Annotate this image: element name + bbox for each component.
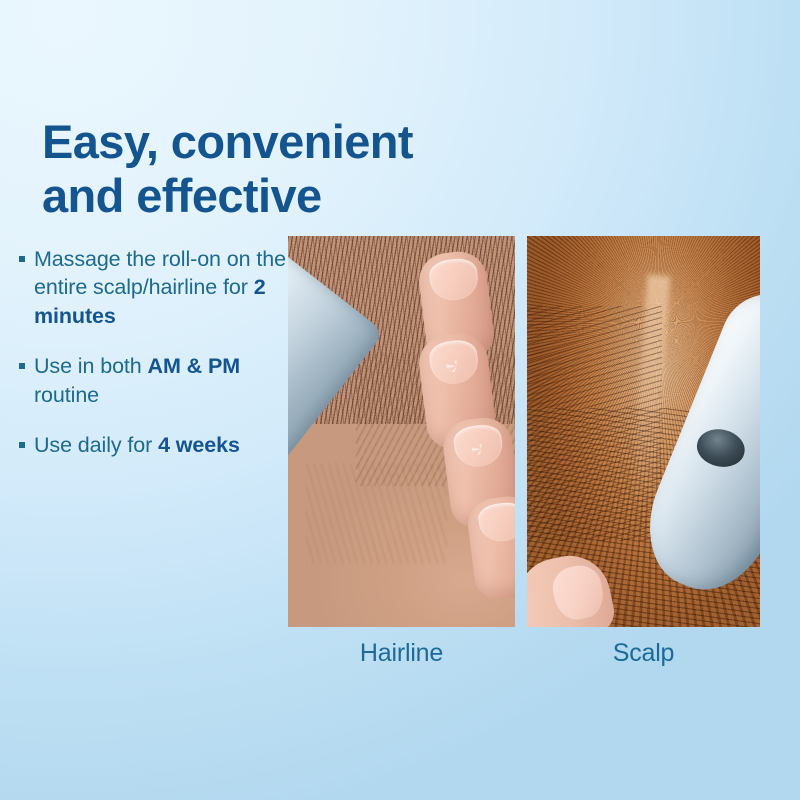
bullet-square-icon <box>19 363 25 369</box>
scalp-photo <box>527 236 760 627</box>
bullet-square-icon <box>19 256 25 262</box>
photo-panel-hairline: vise™ <box>288 236 515 627</box>
nail-art-decal <box>446 360 466 374</box>
nail-art-decal <box>471 443 491 456</box>
fingernail <box>549 561 607 623</box>
plain-text: Massage the roll-on on the entire scalp/… <box>34 247 286 299</box>
list-item-massage: Massage the roll-on on the entire scalp/… <box>17 245 295 330</box>
plain-text: Use in both <box>34 354 148 378</box>
fingernail <box>452 423 505 469</box>
plain-text: Use daily for <box>34 433 158 457</box>
fingernail <box>427 257 480 303</box>
plain-text: routine <box>34 383 99 407</box>
caption-hairline: Hairline <box>288 639 515 668</box>
finger <box>465 494 515 602</box>
bullet-text-massage: Massage the roll-on on the entire scalp/… <box>34 247 286 328</box>
list-item-am-pm: Use in both AM & PM routine <box>17 352 295 409</box>
bullet-square-icon <box>19 442 25 448</box>
bullet-text-am-pm: Use in both AM & PM routine <box>34 354 240 406</box>
instruction-list: Massage the roll-on on the entire scalp/… <box>17 245 295 459</box>
fingernail <box>428 338 481 387</box>
emphasis-text: 4 weeks <box>158 433 240 457</box>
hair-texture-left <box>527 306 662 541</box>
emphasis-text: AM & PM <box>148 354 240 378</box>
caption-scalp: Scalp <box>527 639 760 668</box>
bullet-text-duration: Use daily for 4 weeks <box>34 433 240 457</box>
hairline-photo: vise™ <box>288 236 515 627</box>
infographic-page: Easy, convenient and effective Massage t… <box>0 0 800 800</box>
fingernail <box>476 501 515 545</box>
list-item-duration: Use daily for 4 weeks <box>17 431 295 459</box>
photo-panel-scalp <box>527 236 760 627</box>
page-title: Easy, convenient and effective <box>42 115 602 221</box>
